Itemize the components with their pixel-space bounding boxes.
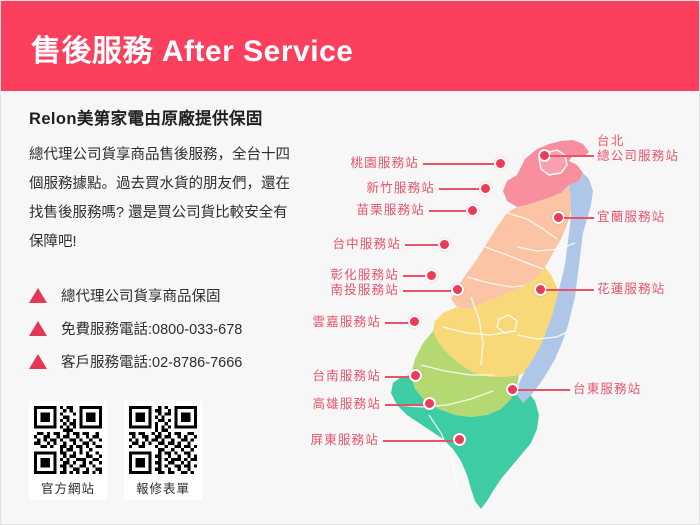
list-item-label: 客戶服務電話:02-8786-7666	[61, 351, 242, 372]
intro-text-block: Relon美第家電由原廠提供保固 總代理公司貨享商品售後服務，全台十四個服務據點…	[29, 105, 319, 257]
station-label-changhua[interactable]: 彰化服務站	[299, 268, 399, 283]
list-item-label: 免費服務電話:0800-033-678	[61, 318, 242, 339]
leader-line-hsinchu	[439, 188, 481, 190]
station-pin-kaohsiung[interactable]	[423, 397, 436, 410]
taiwan-service-map: 桃園服務站 新竹服務站 苗栗服務站 台中服務站 彰化服務站 南投服務站 雲嘉服務…	[321, 97, 700, 525]
leader-line-pingtung	[383, 440, 453, 442]
leader-line-nantou	[403, 290, 451, 292]
station-pin-pingtung[interactable]	[453, 433, 466, 446]
station-label-miaoli[interactable]: 苗栗服務站	[325, 203, 425, 218]
station-label-kaohsiung[interactable]: 高雄服務站	[281, 397, 381, 412]
qr-label: 報修表單	[136, 478, 190, 497]
list-item-label: 總代理公司貨享商品保固	[61, 285, 221, 306]
leader-line-taipei	[550, 155, 594, 157]
station-pin-taichung[interactable]	[438, 238, 451, 251]
station-label-pingtung[interactable]: 屏東服務站	[279, 433, 379, 448]
header-banner: 售後服務 After Service	[1, 1, 700, 91]
qr-code-image	[129, 406, 197, 474]
page-title: 售後服務 After Service	[31, 26, 353, 70]
station-label-nantou[interactable]: 南投服務站	[299, 283, 399, 298]
lead-heading: Relon美第家電由原廠提供保固	[29, 105, 319, 129]
station-label-taitung[interactable]: 台東服務站	[573, 382, 642, 397]
qr-label: 官方網站	[41, 478, 95, 497]
station-label-taipei[interactable]: 台北 總公司服務站	[597, 134, 679, 164]
body-paragraph: 總代理公司貨享商品售後服務，全台十四個服務據點。過去買水貨的朋友們，還在找售後服…	[29, 141, 301, 257]
station-pin-changhua[interactable]	[425, 269, 438, 282]
leader-line-taoyuan	[423, 163, 497, 165]
triangle-icon	[29, 321, 47, 336]
station-pin-nantou[interactable]	[451, 283, 464, 296]
after-service-infographic: 售後服務 After Service Relon美第家電由原廠提供保固 總代理公…	[0, 0, 700, 525]
leader-line-tainan	[385, 376, 411, 378]
station-label-taipei-line2: 總公司服務站	[597, 149, 679, 164]
station-label-tainan[interactable]: 台南服務站	[281, 369, 381, 384]
station-pin-taoyuan[interactable]	[494, 157, 507, 170]
station-label-taoyuan[interactable]: 桃園服務站	[319, 156, 419, 171]
leader-line-hualien	[546, 289, 594, 291]
list-item: 總代理公司貨享商品保固	[29, 279, 329, 312]
station-label-yunchia[interactable]: 雲嘉服務站	[281, 315, 381, 330]
station-pin-miaoli[interactable]	[466, 204, 479, 217]
leader-line-kaohsiung	[385, 404, 425, 406]
station-label-hualien[interactable]: 花蓮服務站	[597, 282, 666, 297]
leader-line-yunchia	[385, 322, 409, 324]
station-pin-yunchia[interactable]	[408, 315, 421, 328]
leader-line-yilan	[564, 217, 594, 219]
station-label-yilan[interactable]: 宜蘭服務站	[597, 210, 666, 225]
station-pin-hsinchu[interactable]	[479, 182, 492, 195]
leader-line-taichung	[405, 244, 439, 246]
qr-card-official-website[interactable]: 官方網站	[29, 401, 107, 500]
qr-code-image	[34, 406, 102, 474]
station-label-hsinchu[interactable]: 新竹服務站	[335, 181, 435, 196]
station-pin-tainan[interactable]	[409, 369, 422, 382]
qr-card-repair-form[interactable]: 報修表單	[124, 401, 202, 500]
triangle-icon	[29, 288, 47, 303]
triangle-icon	[29, 354, 47, 369]
leader-line-miaoli	[429, 210, 467, 212]
station-label-taipei-line1: 台北	[597, 134, 679, 149]
qr-code-group: 官方網站	[29, 401, 202, 500]
leader-line-changhua	[403, 275, 425, 277]
station-label-taichung[interactable]: 台中服務站	[301, 237, 401, 252]
leader-line-taitung	[518, 389, 570, 391]
